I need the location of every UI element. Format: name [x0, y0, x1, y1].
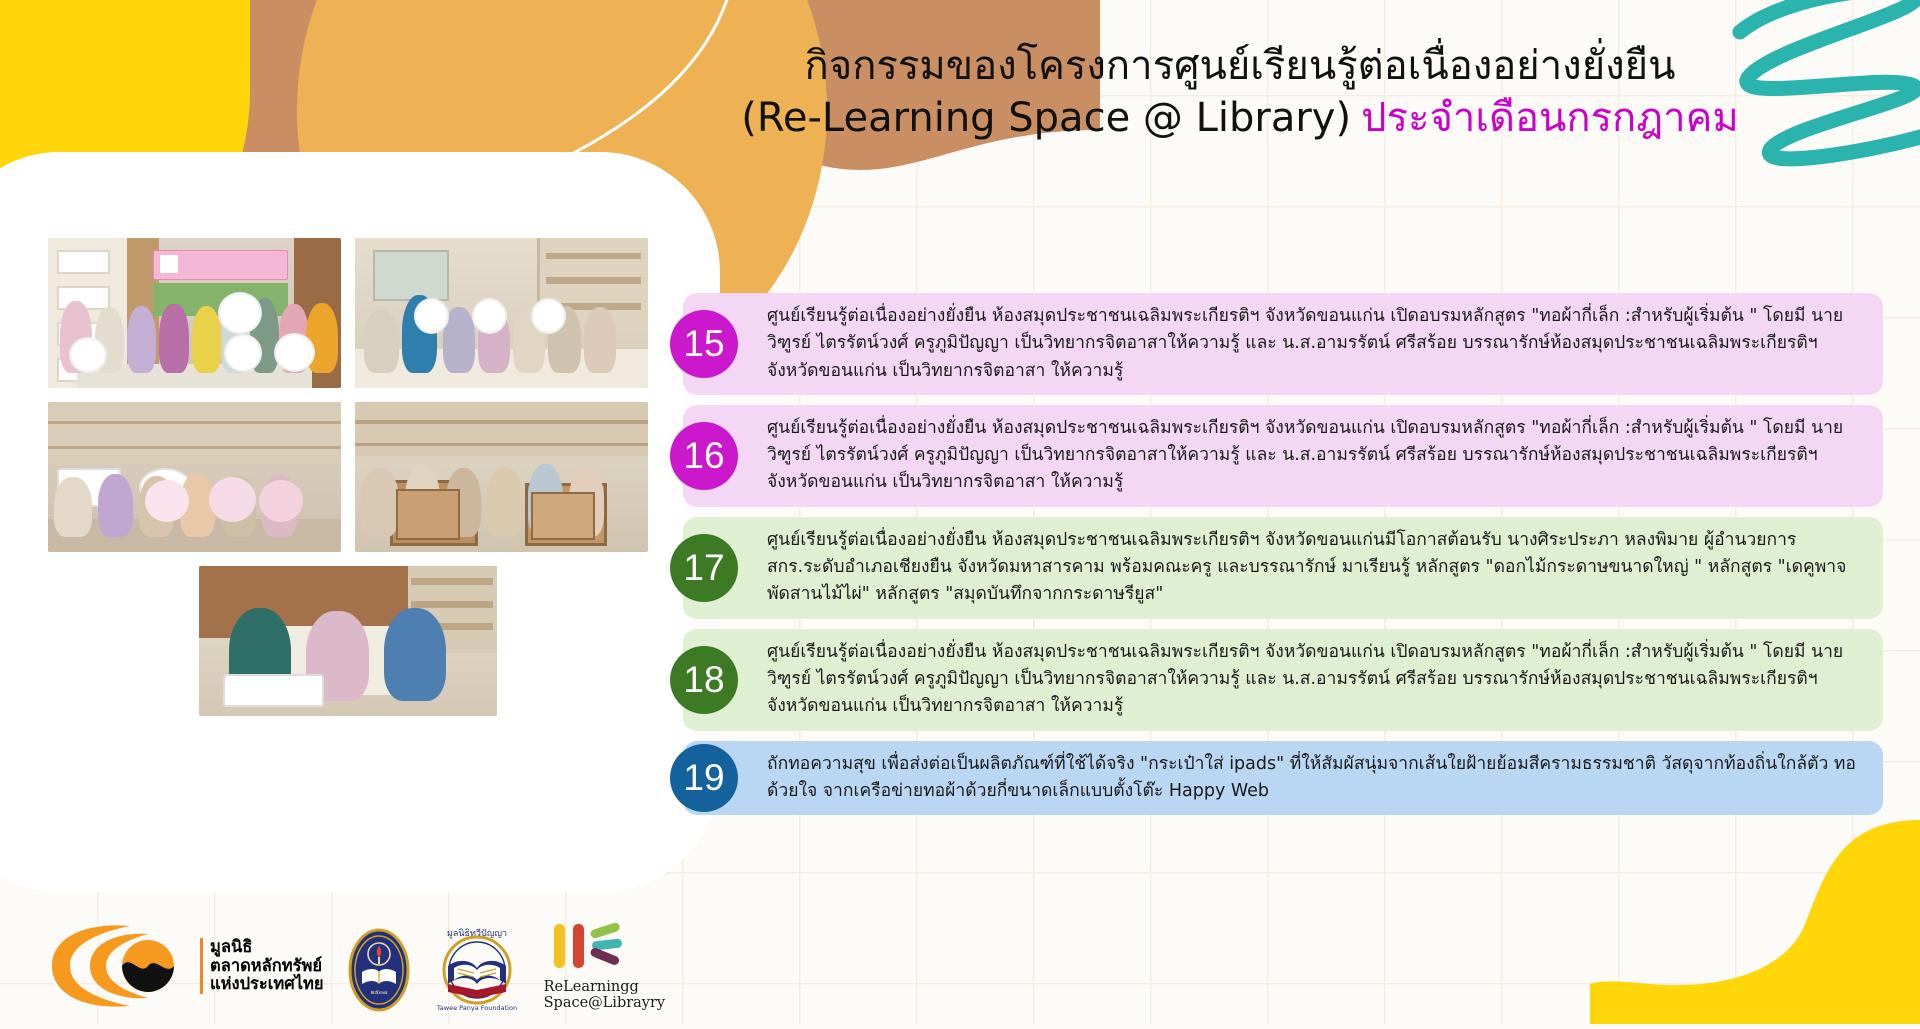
status-badge: 19 — [670, 744, 738, 812]
list-item: 18 ศูนย์เรียนรู้ต่อเนื่องอย่างยั่งยืน ห้… — [683, 629, 1883, 731]
page-title-english: (Re-Learning Space @ Library) — [741, 92, 1351, 144]
status-badge: 15 — [670, 310, 738, 378]
set-foundation-mark-icon — [44, 920, 192, 1012]
status-badge: 16 — [670, 422, 738, 490]
page-header: กิจกรรมของโครงการศูนย์เรียนรู้ต่อเนื่องอ… — [640, 40, 1840, 144]
svg-text:มูลนิธิทวีปัญญา: มูลนิธิทวีปัญญา — [447, 928, 507, 939]
status-badge: 17 — [670, 534, 738, 602]
list-item-text: ศูนย์เรียนรู้ต่อเนื่องอย่างยั่งยืน ห้องส… — [767, 527, 1863, 609]
photo-three-people-with-woven-cloth — [199, 566, 497, 716]
logo-thai-library-association: ๒๕๓๗ — [348, 928, 410, 1012]
svg-text:Tawee Panya Foundation: Tawee Panya Foundation — [436, 1004, 517, 1012]
list-item: 16 ศูนย์เรียนรู้ต่อเนื่องอย่างยั่งยืน ห้… — [683, 405, 1883, 507]
photo-row-2 — [48, 402, 648, 552]
photo-row-1 — [48, 238, 648, 388]
page-title-line-2: (Re-Learning Space @ Library) ประจำเดือน… — [640, 92, 1840, 144]
relearning-space-label: ReLearningg Space@Librayry — [544, 980, 664, 1012]
list-item: 17 ศูนย์เรียนรู้ต่อเนื่องอย่างยั่งยืน ห้… — [683, 517, 1883, 619]
photo-paper-flowers — [48, 402, 341, 552]
svg-text:๒๕๓๗: ๒๕๓๗ — [370, 989, 388, 996]
list-item-text: ถักทอความสุข เพื่อส่งต่อเป็นผลิตภัณฑ์ที่… — [767, 751, 1863, 806]
page-title-line-1: กิจกรรมของโครงการศูนย์เรียนรู้ต่อเนื่องอ… — [640, 40, 1840, 92]
list-item-text: ศูนย์เรียนรู้ต่อเนื่องอย่างยั่งยืน ห้องส… — [767, 415, 1863, 497]
list-item-text: ศูนย์เรียนรู้ต่อเนื่องอย่างยั่งยืน ห้องส… — [767, 303, 1863, 385]
logo-set-foundation: มูลนิธิ ตลาดหลักทรัพย์ แห่งประเทศไทย — [44, 920, 324, 1012]
list-item: 15 ศูนย์เรียนรู้ต่อเนื่องอย่างยั่งยืน ห้… — [683, 293, 1883, 395]
photo-small-looms — [355, 402, 648, 552]
status-badge: 18 — [670, 646, 738, 714]
list-item: 19 ถักทอความสุข เพื่อส่งต่อเป็นผลิตภัณฑ์… — [683, 741, 1883, 816]
photo-library-weaving-banner — [48, 238, 341, 388]
list-item-text: ศูนย์เรียนรู้ต่อเนื่องอย่างยั่งยืน ห้องส… — [767, 639, 1863, 721]
activity-list: 15 ศูนย์เรียนรู้ต่อเนื่องอย่างยั่งยืน ห้… — [683, 293, 1883, 825]
logo-relearning-space: ReLearningg Space@Librayry — [544, 920, 644, 1012]
set-foundation-label: มูลนิธิ ตลาดหลักทรัพย์ แห่งประเทศไทย — [200, 938, 324, 995]
page-title-month: ประจำเดือนกรกฎาคม — [1361, 92, 1739, 144]
logo-tawee-panya-foundation: มูลนิธิทวีปัญญา Tawee Panya Foundation — [434, 922, 520, 1012]
footer-logos: มูลนิธิ ตลาดหลักทรัพย์ แห่งประเทศไทย ๒๕๓… — [44, 920, 644, 1012]
photo-collage — [48, 238, 648, 716]
photo-workshop-table-plates — [355, 238, 648, 388]
